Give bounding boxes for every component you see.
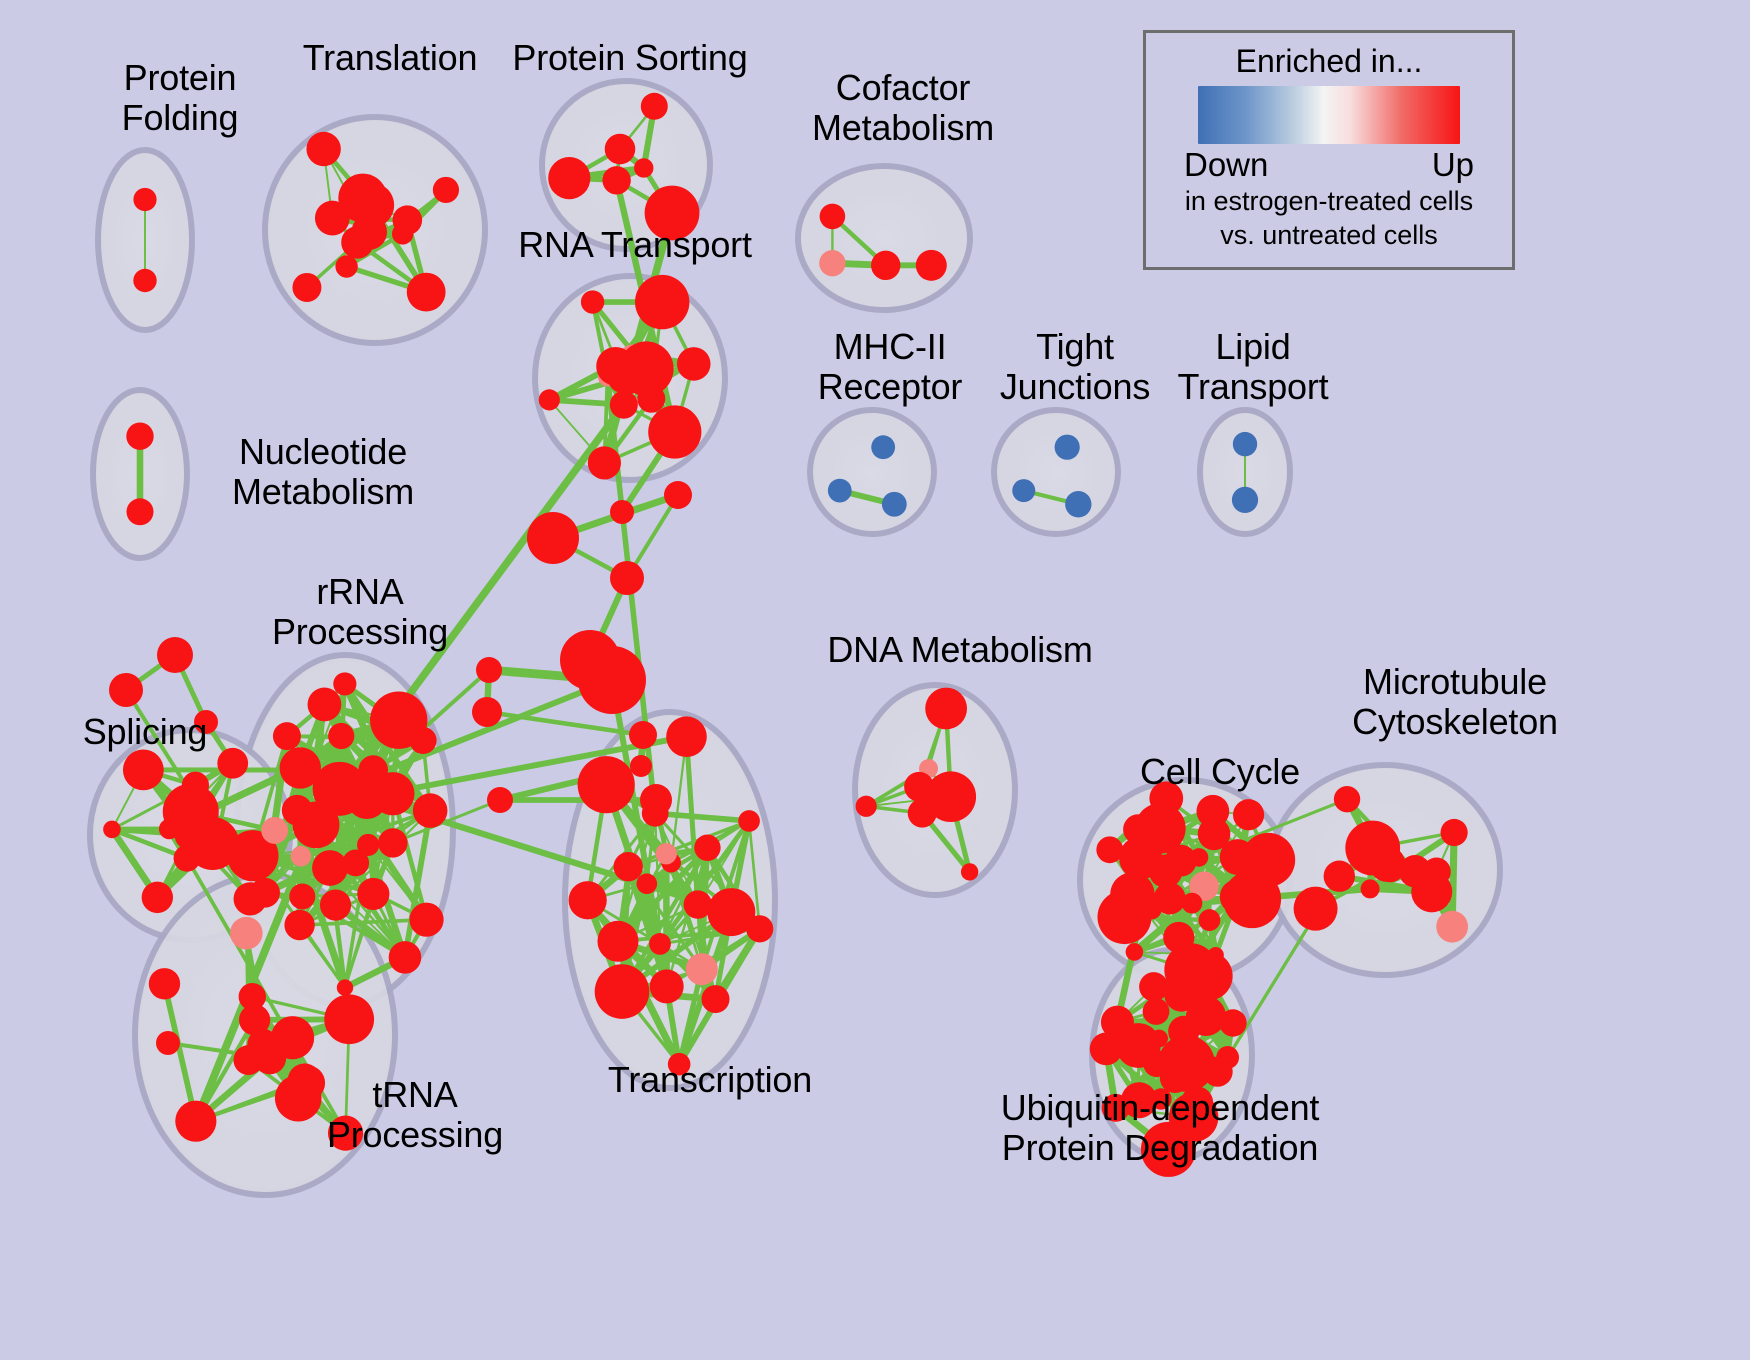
network-node [413,793,448,828]
network-node [746,915,773,942]
network-node [871,435,895,459]
network-node [656,843,677,864]
cluster-label-cell-cycle: Cell Cycle [1105,752,1335,792]
network-node [1139,972,1168,1001]
cluster-label-tight-junctions: Tight Junctions [975,327,1175,408]
network-node [1376,854,1404,882]
network-node [1101,1006,1134,1039]
network-node [1199,909,1221,931]
network-node [648,405,701,458]
network-node [1219,1009,1246,1036]
cluster-label-mhc-ii-receptor: MHC-II Receptor [790,327,990,408]
network-node [614,852,643,881]
network-node [1097,890,1151,944]
cluster-label-trna-processing: tRNA Processing [300,1075,530,1156]
network-node [578,756,635,813]
cluster-label-rrna-processing: rRNA Processing [245,572,475,653]
cluster-hull [810,410,934,534]
network-node [595,964,650,1019]
network-node [1096,836,1123,863]
network-node [925,688,967,730]
network-node [636,873,657,894]
cluster-label-rna-transport: RNA Transport [490,225,780,265]
network-node [156,1031,180,1055]
network-node [694,835,720,861]
network-node [289,883,315,909]
network-node [649,933,671,955]
network-node [1232,487,1258,513]
network-node [819,250,845,276]
network-node [1294,887,1338,931]
network-node [630,755,652,777]
network-node [280,747,321,788]
network-node [635,275,689,329]
network-node [1233,432,1257,456]
network-node [306,132,340,166]
network-node [292,273,321,302]
network-node [174,819,205,850]
network-node [605,134,636,165]
legend-endpoints: Down Up [1146,146,1512,184]
network-node [320,889,351,920]
legend-subtitle-1: in estrogen-treated cells [1185,186,1473,218]
network-node [738,810,760,832]
cluster-label-splicing: Splicing [55,712,235,752]
cluster-label-lipid-transport: Lipid Transport [1153,327,1353,408]
network-node [1065,491,1091,517]
network-node [273,722,301,750]
network-node [312,850,348,886]
network-node [308,688,342,722]
network-node [588,446,621,479]
network-node [371,772,414,815]
network-node [157,637,193,673]
network-node [1422,858,1451,887]
legend-high-label: Up [1432,146,1474,184]
network-node [650,969,684,1003]
network-node [324,994,374,1044]
network-node [389,941,422,974]
cluster-label-microtubule-cytoskeleton: Microtubule Cytoskeleton [1310,662,1600,743]
cluster-hull [994,410,1118,534]
cluster-label-protein-sorting: Protein Sorting [480,38,780,78]
network-node [640,784,672,816]
network-node [527,512,579,564]
network-node [548,157,590,199]
cluster-label-ubiquitin-protein-degradation: Ubiquitin-dependent Protein Degradation [990,1088,1330,1169]
network-node [664,481,692,509]
network-node [1143,998,1170,1025]
network-node [472,697,502,727]
network-node [1055,435,1080,460]
network-node [569,881,607,919]
network-node [433,177,459,203]
network-node [253,1042,286,1075]
network-node [126,423,153,450]
network-node [487,787,513,813]
network-node [1186,996,1226,1036]
network-node [335,255,357,277]
network-node [610,561,644,595]
network-node [393,205,423,235]
network-node [610,391,638,419]
network-node [904,772,934,802]
network-node [1324,861,1355,892]
network-node [127,498,154,525]
network-node [182,772,209,799]
network-node [702,985,730,1013]
network-node [315,201,350,236]
network-node [284,910,314,940]
network-node [409,727,436,754]
network-node [328,723,354,749]
network-node [407,273,446,312]
network-node [357,878,389,910]
network-node [578,646,646,714]
network-node [1361,879,1380,898]
cluster-hull [798,166,970,310]
network-node [109,673,143,707]
cluster-label-nucleotide-metabolism: Nucleotide Metabolism [198,432,448,513]
network-node [1436,911,1468,943]
network-node [123,750,164,791]
network-node [142,882,173,913]
network-node [1223,870,1281,928]
legend-subtitle-2: vs. untreated cells [1220,220,1438,252]
network-node [637,385,665,413]
network-node [856,796,877,817]
network-node [291,846,312,867]
network-node [871,251,900,280]
network-node [602,166,630,194]
network-node [234,882,267,915]
network-node [476,657,502,683]
network-node [641,93,668,120]
network-node [882,492,907,517]
network-node [1334,786,1360,812]
network-node [820,204,846,230]
network-figure: Protein FoldingTranslationProtein Sortin… [0,0,1750,1360]
legend-title: Enriched in... [1236,43,1423,80]
network-node [201,824,233,856]
network-node [1126,943,1144,961]
cluster-label-dna-metabolism: DNA Metabolism [810,630,1110,670]
network-node [828,479,852,503]
network-node [686,953,718,985]
network-node [581,290,604,313]
network-node [1123,814,1153,844]
network-node [103,821,121,839]
legend-low-label: Down [1184,146,1268,184]
network-node [1012,479,1035,502]
network-node [1190,848,1209,867]
network-node [908,799,937,828]
network-node [961,863,978,880]
network-node [282,795,313,826]
cluster-label-cofactor-metabolism: Cofactor Metabolism [778,68,1028,149]
network-node [1196,795,1229,828]
network-node [409,903,443,937]
network-node [666,716,707,757]
network-node [610,500,634,524]
cluster-label-transcription: Transcription [570,1060,850,1100]
network-node [597,921,638,962]
network-node [351,214,387,250]
network-node [378,828,407,857]
network-node [337,979,353,995]
network-node [133,188,156,211]
network-node [230,917,263,950]
network-node [629,721,657,749]
network-node [539,389,560,410]
legend-box: Enriched in... Down Up in estrogen-treat… [1143,30,1515,270]
network-node [333,672,356,695]
network-node [1441,819,1468,846]
network-node [1216,1046,1239,1069]
network-node [677,347,711,381]
legend-color-bar [1198,86,1460,144]
network-node [916,250,947,281]
network-node [634,158,653,177]
network-node [149,968,180,999]
network-node [133,269,156,292]
network-node [217,748,248,779]
cluster-label-protein-folding: Protein Folding [80,58,280,139]
network-node [1184,952,1233,1001]
network-node [1233,799,1264,830]
network-node [261,817,288,844]
network-node [175,1101,216,1142]
